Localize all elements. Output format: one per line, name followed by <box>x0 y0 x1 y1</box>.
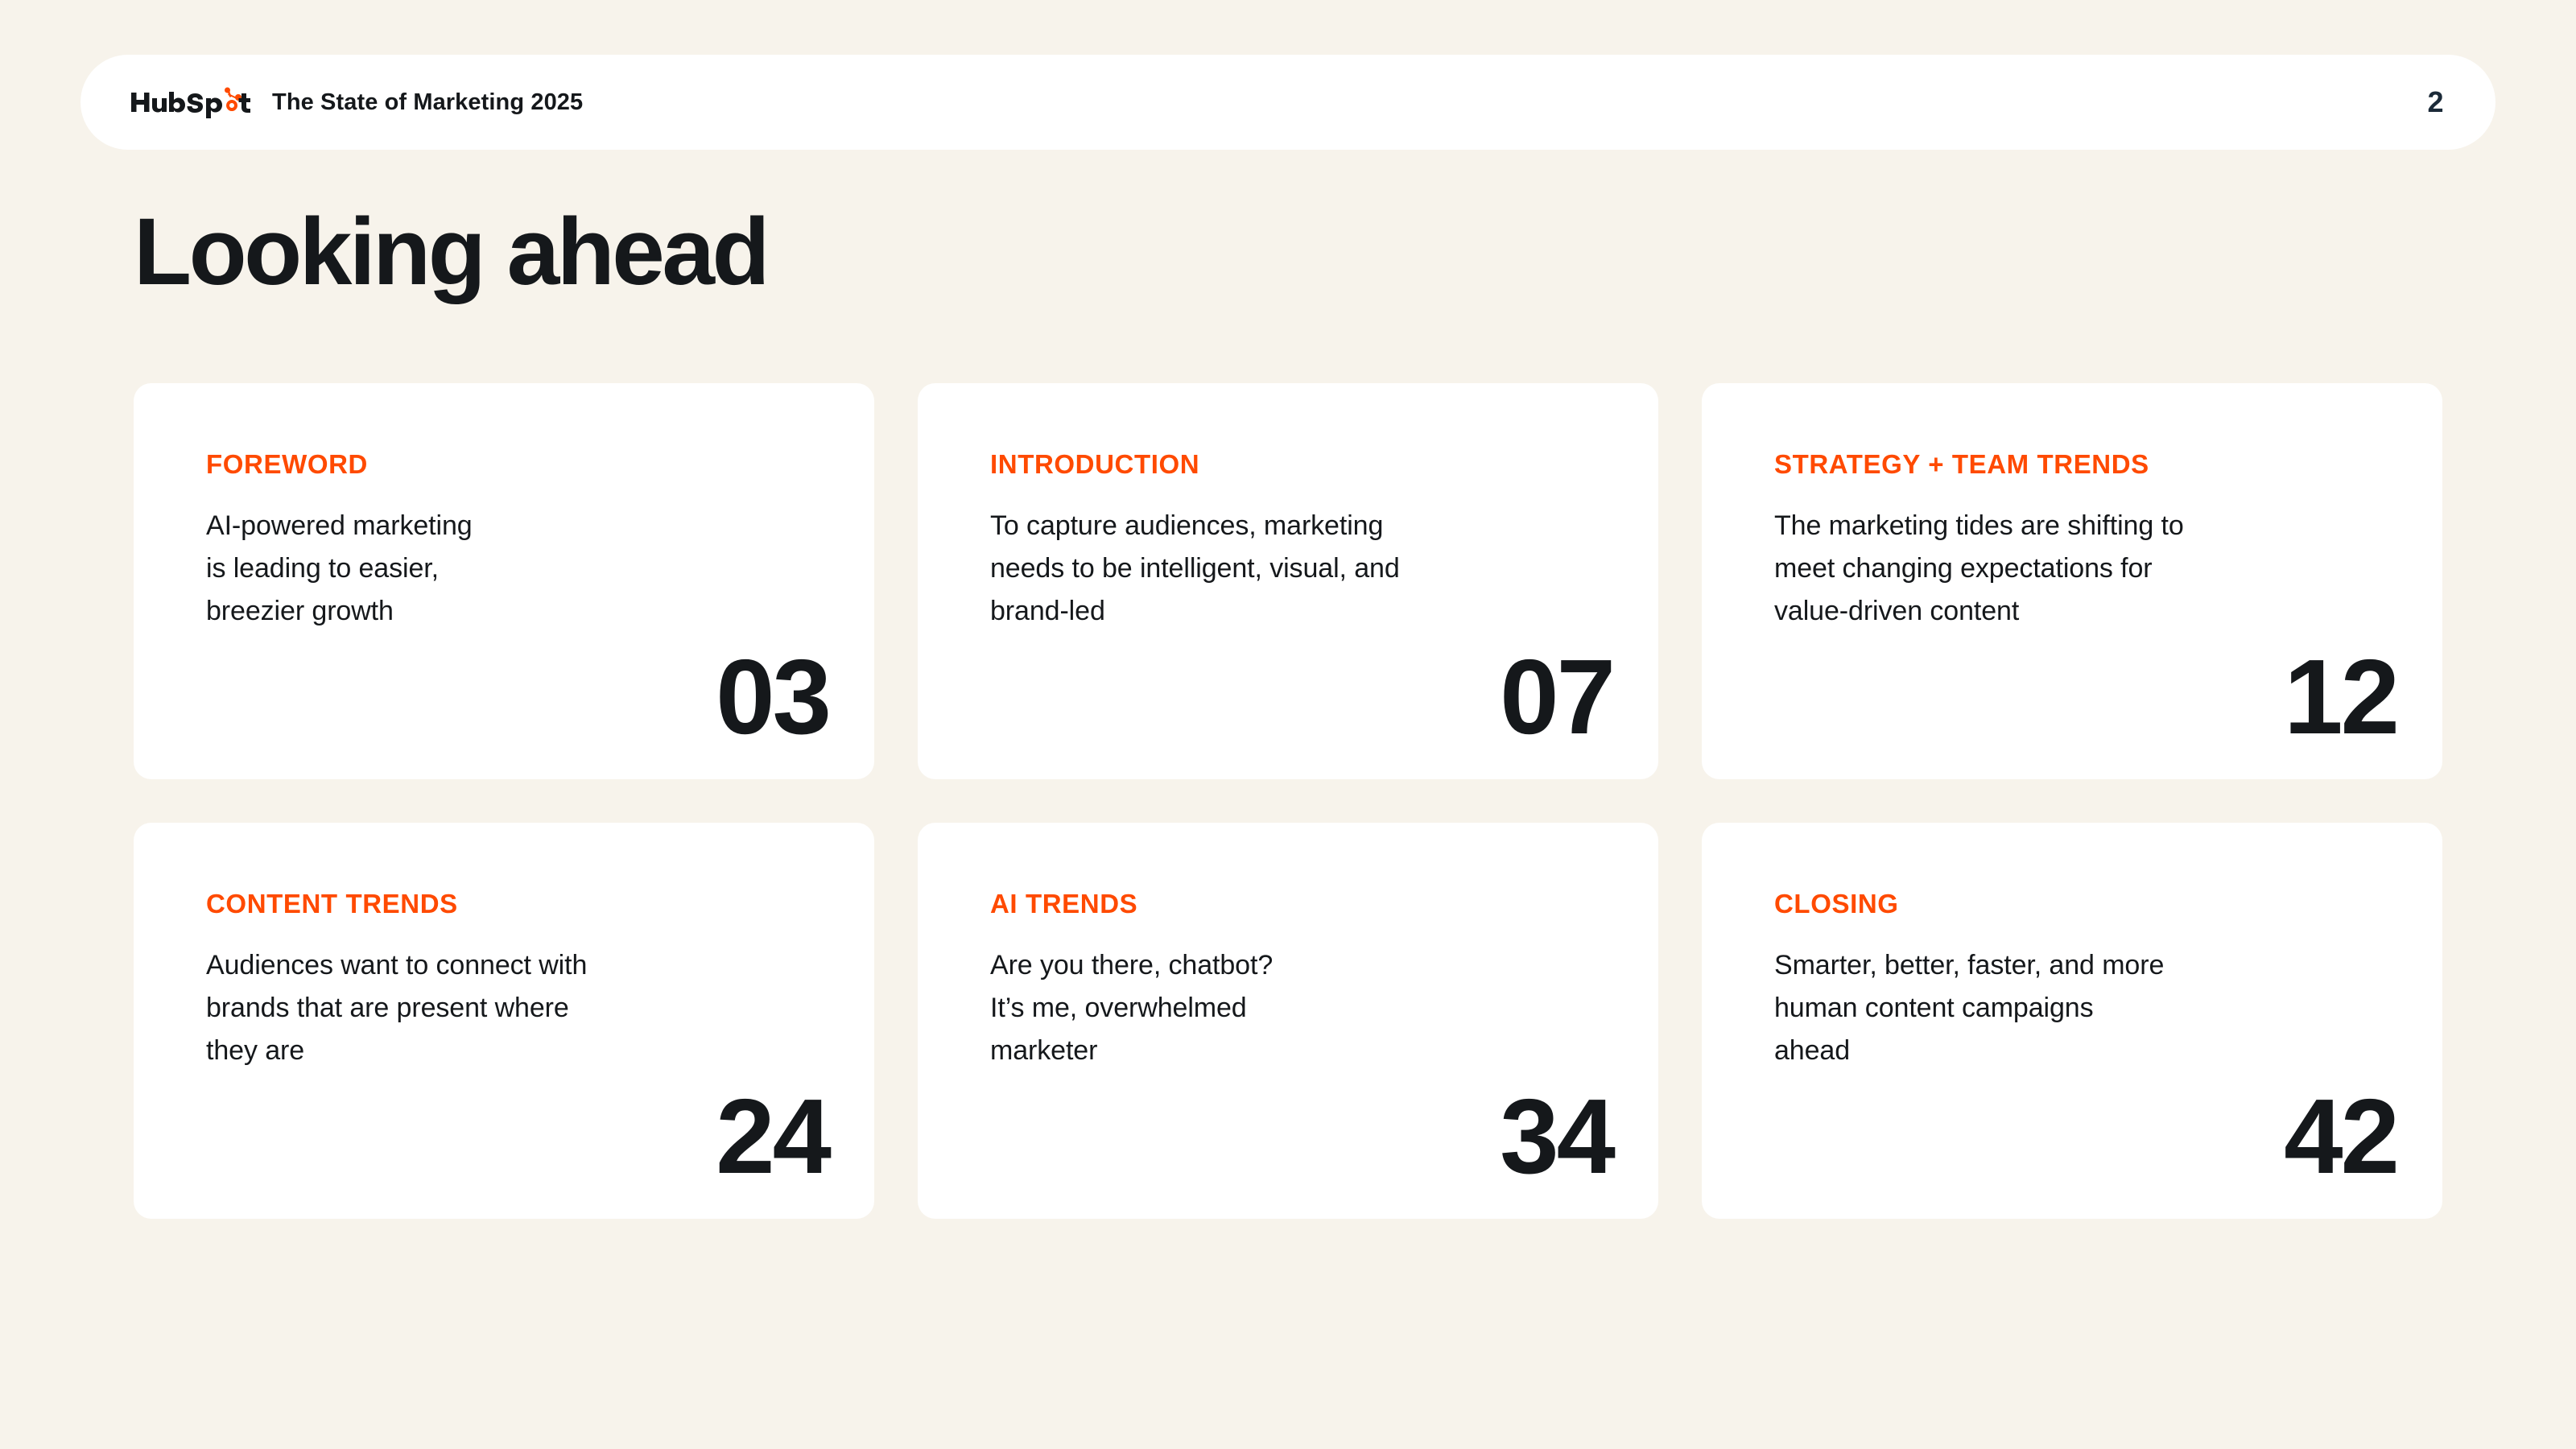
report-title: The State of Marketing 2025 <box>272 89 583 116</box>
card-description: To capture audiences, marketing needs to… <box>990 505 1613 633</box>
hubspot-logo <box>130 86 251 118</box>
section-card-content-trends[interactable]: CONTENT TRENDS Audiences want to connect… <box>134 823 874 1219</box>
header-bar: The State of Marketing 2025 2 <box>80 55 2495 150</box>
card-page-number: 07 <box>1500 644 1613 750</box>
card-description: AI-powered marketing is leading to easie… <box>206 505 829 633</box>
card-page-number: 34 <box>1500 1084 1613 1190</box>
section-card-ai-trends[interactable]: AI TRENDS Are you there, chatbot? It’s m… <box>918 823 1658 1219</box>
card-page-number: 42 <box>2284 1084 2397 1190</box>
card-kicker: CONTENT TRENDS <box>206 890 829 917</box>
brand-block: The State of Marketing 2025 <box>130 86 583 118</box>
slide-page: The State of Marketing 2025 2 Looking ah… <box>0 0 2576 1449</box>
page-number: 2 <box>2427 85 2444 119</box>
card-page-number: 24 <box>716 1084 829 1190</box>
section-card-foreword[interactable]: FOREWORD AI-powered marketing is leading… <box>134 383 874 779</box>
card-kicker: CLOSING <box>1774 890 2397 917</box>
card-description: Audiences want to connect with brands th… <box>206 944 829 1072</box>
section-card-grid: FOREWORD AI-powered marketing is leading… <box>134 383 2442 1219</box>
card-kicker: AI TRENDS <box>990 890 1613 917</box>
card-description: Are you there, chatbot? It’s me, overwhe… <box>990 944 1613 1072</box>
card-description: Smarter, better, faster, and more human … <box>1774 944 2397 1072</box>
card-description: The marketing tides are shifting to meet… <box>1774 505 2397 633</box>
section-card-strategy-team-trends[interactable]: STRATEGY + TEAM TRENDS The marketing tid… <box>1702 383 2442 779</box>
card-page-number: 12 <box>2284 644 2397 750</box>
card-page-number: 03 <box>716 644 829 750</box>
section-card-closing[interactable]: CLOSING Smarter, better, faster, and mor… <box>1702 823 2442 1219</box>
card-kicker: STRATEGY + TEAM TRENDS <box>1774 451 2397 477</box>
card-kicker: FOREWORD <box>206 451 829 477</box>
page-title: Looking ahead <box>134 204 767 299</box>
section-card-introduction[interactable]: INTRODUCTION To capture audiences, marke… <box>918 383 1658 779</box>
card-kicker: INTRODUCTION <box>990 451 1613 477</box>
